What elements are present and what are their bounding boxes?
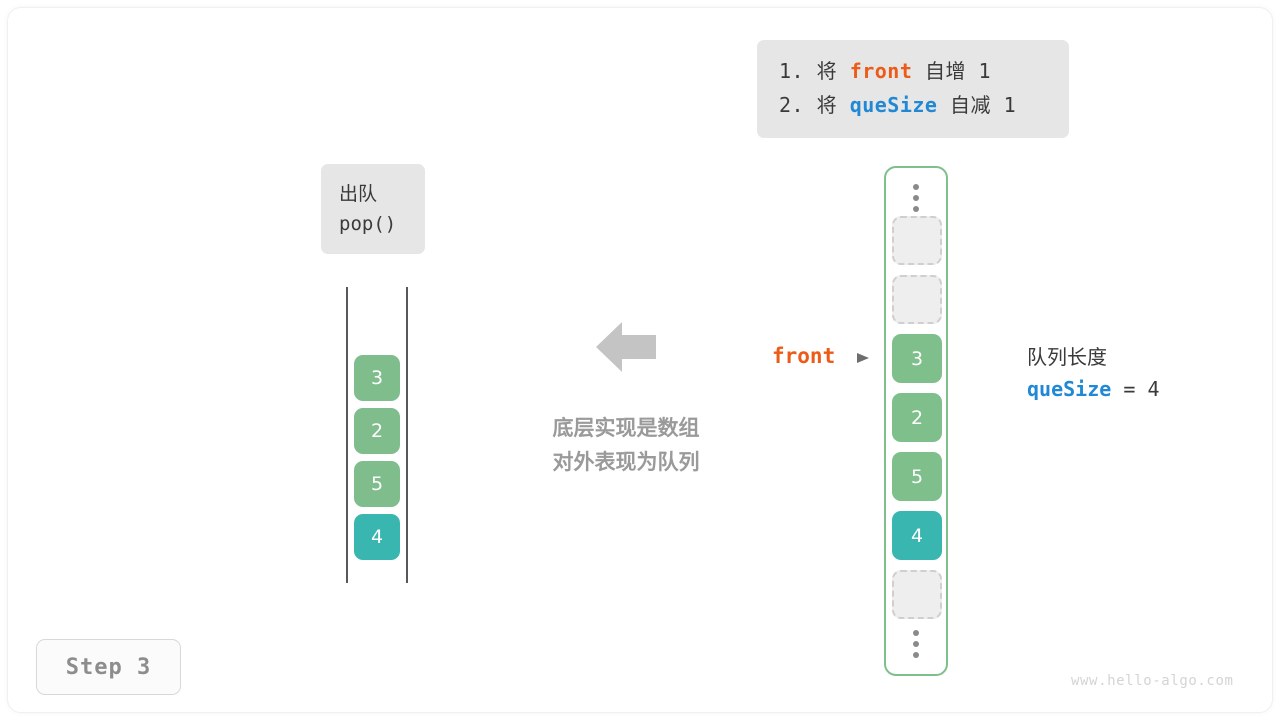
left-arrow-icon — [596, 322, 656, 372]
note-2-keyword: queSize — [850, 93, 938, 117]
queue-view: 3 2 5 4 — [346, 287, 408, 583]
step-badge-label: Step 3 — [66, 655, 151, 680]
watermark: www.hello-algo.com — [1071, 673, 1234, 689]
array-cell: 5 — [892, 452, 942, 501]
operation-note-box: 1. 将 front 自增 1 2. 将 queSize 自减 1 — [757, 40, 1069, 138]
array-cell — [892, 570, 942, 619]
note-2-value: 1 — [1004, 93, 1017, 117]
diagram-caption: 底层实现是数组 对外表现为队列 — [530, 411, 722, 479]
diagram-canvas: 1. 将 front 自增 1 2. 将 queSize 自减 1 出队 pop… — [0, 0, 1280, 720]
queue-size-annotation: 队列长度 queSize = 4 — [1027, 341, 1159, 405]
operation-title: 出队 — [339, 179, 425, 209]
step-badge: Step 3 — [36, 639, 181, 695]
queue-cell: 4 — [354, 514, 400, 560]
caption-line-2: 对外表现为队列 — [530, 445, 722, 479]
caption-line-1: 底层实现是数组 — [530, 411, 722, 445]
array-cell — [892, 216, 942, 265]
queue-rail-right — [406, 287, 408, 583]
note-1-text-after: 自增 — [925, 59, 966, 83]
array-cell: 2 — [892, 393, 942, 442]
note-2-index: 2. — [779, 93, 804, 117]
array-cell: 3 — [892, 334, 942, 383]
array-cell — [892, 275, 942, 324]
operation-label-box: 出队 pop() — [321, 164, 425, 254]
queue-rail-left — [346, 287, 348, 583]
queue-size-value: 4 — [1147, 377, 1159, 401]
queue-cell: 2 — [354, 408, 400, 454]
note-1-text-before: 将 — [817, 59, 838, 83]
queue-cell: 5 — [354, 461, 400, 507]
note-1-keyword: front — [850, 59, 913, 83]
operation-method: pop() — [339, 209, 425, 239]
queue-cell: 3 — [354, 355, 400, 401]
note-1-index: 1. — [779, 59, 804, 83]
note-2-text-before: 将 — [817, 93, 838, 117]
array-bottom-ellipsis-icon — [886, 630, 946, 658]
note-line-1: 1. 将 front 自增 1 — [779, 54, 1047, 88]
note-2-text-after: 自减 — [950, 93, 991, 117]
queue-size-var: queSize — [1027, 377, 1111, 401]
queue-size-expression: queSize = 4 — [1027, 373, 1159, 405]
queue-size-equals: = — [1123, 377, 1135, 401]
front-pointer-arrow-icon — [855, 350, 871, 366]
array-cell: 4 — [892, 511, 942, 560]
queue-size-label: 队列长度 — [1027, 341, 1159, 373]
note-line-2: 2. 将 queSize 自减 1 — [779, 88, 1047, 122]
array-view: 3 2 5 4 — [884, 166, 948, 676]
note-1-value: 1 — [979, 59, 992, 83]
front-pointer-label: front — [772, 344, 835, 368]
array-top-ellipsis-icon — [886, 184, 946, 212]
